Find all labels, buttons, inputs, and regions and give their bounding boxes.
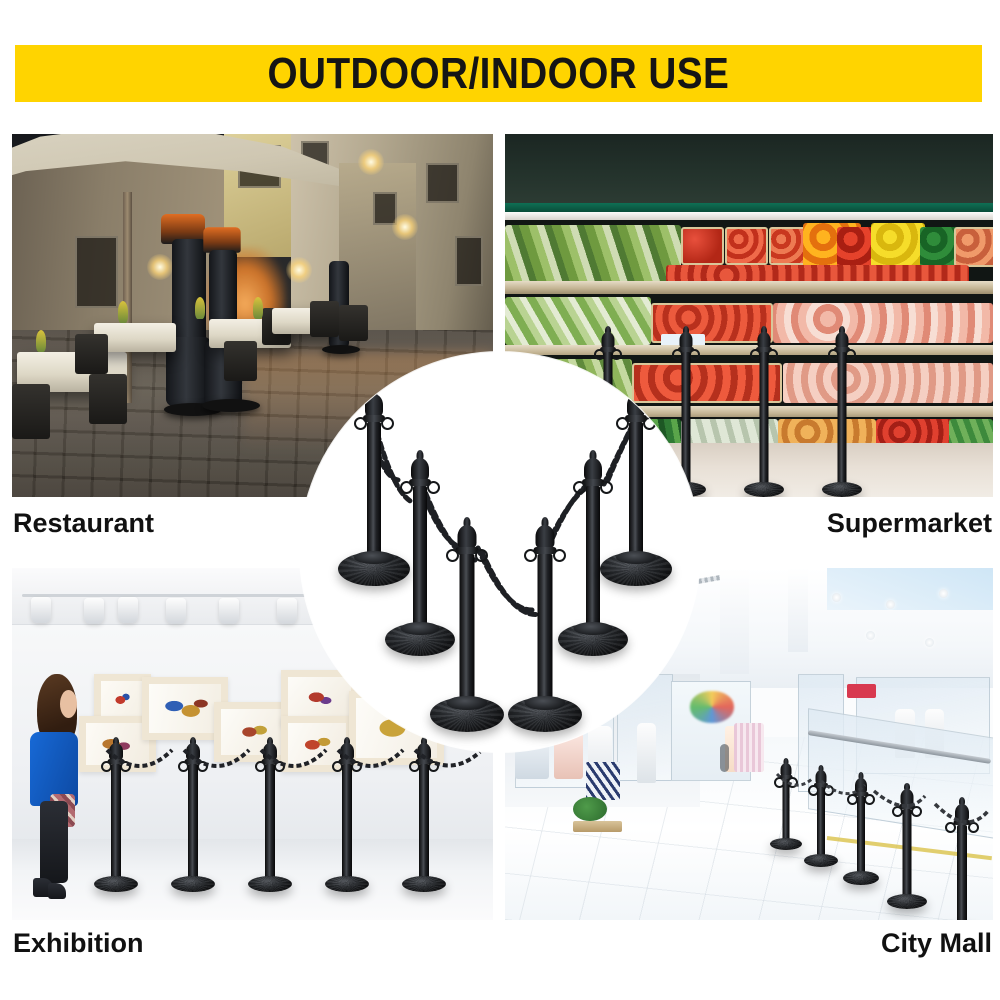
patio-heater-shaft — [172, 239, 206, 348]
table-flower — [36, 330, 46, 352]
chair — [224, 341, 258, 381]
product-inset-circle — [300, 352, 700, 752]
table-flower — [195, 297, 205, 319]
stanchion-post — [430, 517, 504, 732]
leafy-greens-display — [505, 225, 681, 283]
packaged-meat-display — [783, 363, 993, 403]
chair — [75, 334, 109, 374]
chair — [12, 384, 50, 438]
packaged-meat-display — [773, 303, 993, 343]
packaged-salad-display — [505, 297, 651, 344]
shelf-lightbar — [505, 212, 993, 220]
window — [75, 236, 118, 309]
street-lamp-glow — [358, 149, 384, 175]
caption-restaurant: Restaurant — [13, 508, 154, 538]
hanging-lamp-glow — [147, 254, 173, 280]
tomato-crate — [769, 227, 807, 265]
window — [426, 163, 460, 203]
red-pepper-pile — [837, 227, 876, 267]
stanchion-post — [744, 326, 784, 497]
chair — [310, 301, 339, 337]
window — [455, 236, 484, 287]
table-flower — [118, 301, 128, 323]
tomato-crate — [725, 227, 768, 265]
patio-heater-base — [202, 399, 260, 412]
patio-heater-top — [203, 227, 240, 253]
shelf-board — [505, 281, 993, 294]
caption-city-mall: City Mall — [881, 928, 992, 958]
chair — [339, 305, 368, 341]
collage-canvas: OUTDOOR/INDOOR USE — [0, 0, 1000, 1000]
stanchion-post — [822, 326, 862, 497]
green-trim-top — [505, 203, 993, 212]
table-flower — [253, 297, 263, 319]
stanchion-post — [600, 386, 672, 586]
green-pepper-pile — [920, 227, 959, 267]
street-lamp-glow — [392, 214, 418, 240]
produce-crate — [954, 227, 993, 267]
chair — [89, 374, 127, 425]
ceiling-dark-band — [505, 134, 993, 203]
header-banner: OUTDOOR/INDOOR USE — [15, 45, 982, 102]
banner-title: OUTDOOR/INDOOR USE — [268, 52, 730, 96]
yellow-pepper-pile — [871, 223, 925, 270]
tomato-crate — [681, 227, 724, 265]
caption-supermarket: Supermarket — [827, 508, 992, 538]
caption-exhibition: Exhibition — [13, 928, 144, 958]
